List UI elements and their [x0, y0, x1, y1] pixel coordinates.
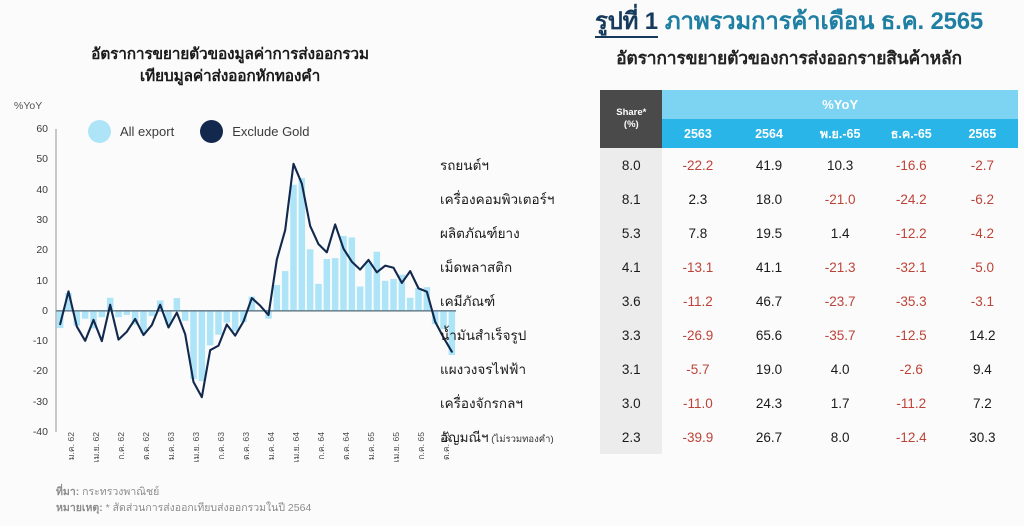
row-label: รถยนต์ฯ: [440, 148, 600, 182]
header-year-1: 2564: [733, 119, 804, 148]
header-yoy: %YoY: [662, 90, 1018, 119]
row-value-0: -22.2: [662, 148, 733, 182]
row-value-4: -5.0: [947, 250, 1018, 284]
row-label: น้ำมันสำเร็จรูป: [440, 318, 600, 352]
header-year-0: 2563: [662, 119, 733, 148]
row-value-2: -21.3: [805, 250, 876, 284]
row-share-value: 5.3: [600, 216, 662, 250]
commodity-growth-table: Share* (%) %YoY 25632564พ.ย.-65ธ.ค.-6525…: [440, 90, 1018, 454]
row-value-2: -35.7: [805, 318, 876, 352]
footnotes: ที่มา: กระทรวงพาณิชย์ หมายเหตุ: * สัดส่ว…: [56, 484, 311, 517]
row-value-3: -32.1: [876, 250, 947, 284]
row-value-4: -3.1: [947, 284, 1018, 318]
row-value-3: -12.5: [876, 318, 947, 352]
row-value-2: 1.4: [805, 216, 876, 250]
figure-number: รูปที่ 1: [595, 8, 658, 38]
row-value-2: 8.0: [805, 420, 876, 454]
row-value-3: -11.2: [876, 386, 947, 420]
header-year-4: 2565: [947, 119, 1018, 148]
x-tick-13: เม.ย. 65: [389, 432, 403, 462]
x-tick-4: ม.ค. 63: [164, 432, 178, 460]
header-share-line1: Share: [616, 107, 642, 118]
row-label: เคมีภัณฑ์: [440, 284, 600, 318]
row-value-4: -4.2: [947, 216, 1018, 250]
row-value-0: -26.9: [662, 318, 733, 352]
row-value-2: -23.7: [805, 284, 876, 318]
header-share-line2: (%): [624, 119, 639, 130]
row-label-note: (ไม่รวมทองคำ): [489, 434, 554, 445]
row-label: อัญมณีฯ (ไม่รวมทองคำ): [440, 420, 600, 454]
footnote-source: ที่มา: กระทรวงพาณิชย์: [56, 484, 311, 500]
x-tick-14: ก.ค. 65: [414, 432, 428, 460]
x-tick-7: ต.ค. 63: [239, 432, 253, 460]
row-value-4: 9.4: [947, 352, 1018, 386]
row-label: เม็ดพลาสติก: [440, 250, 600, 284]
row-value-1: 19.0: [733, 352, 804, 386]
table-head-row-1: Share* (%) %YoY: [440, 90, 1018, 119]
row-share-value: 4.1: [600, 250, 662, 284]
row-value-3: -24.2: [876, 182, 947, 216]
row-share-value: 8.0: [600, 148, 662, 182]
row-value-0: -39.9: [662, 420, 733, 454]
row-value-4: 7.2: [947, 386, 1018, 420]
row-value-3: -35.3: [876, 284, 947, 318]
page-title: รูปที่ 1ภาพรวมการค้าเดือน ธ.ค. 2565: [560, 8, 1018, 36]
x-tick-5: เม.ย. 63: [189, 432, 203, 462]
row-value-1: 24.3: [733, 386, 804, 420]
row-value-2: -21.0: [805, 182, 876, 216]
x-tick-10: ก.ค. 64: [314, 432, 328, 460]
x-tick-6: ก.ค. 63: [214, 432, 228, 460]
footnote-note: หมายเหตุ: * สัดส่วนการส่งออกเทียบส่งออกร…: [56, 500, 311, 516]
table-row: เครื่องคอมพิวเตอร์ฯ8.12.318.0-21.0-24.2-…: [440, 182, 1018, 216]
row-value-3: -12.2: [876, 216, 947, 250]
row-value-2: 4.0: [805, 352, 876, 386]
x-tick-8: ม.ค. 64: [264, 432, 278, 460]
row-share-value: 3.3: [600, 318, 662, 352]
row-value-1: 46.7: [733, 284, 804, 318]
row-value-0: 2.3: [662, 182, 733, 216]
x-tick-3: ต.ค. 62: [139, 432, 153, 460]
row-value-0: -13.1: [662, 250, 733, 284]
footnote-source-key: ที่มา:: [56, 486, 79, 498]
row-value-1: 41.1: [733, 250, 804, 284]
row-value-0: -5.7: [662, 352, 733, 386]
header-share: Share* (%): [600, 90, 662, 148]
row-value-2: 10.3: [805, 148, 876, 182]
table-body: รถยนต์ฯ8.0-22.241.910.3-16.6-2.7เครื่องค…: [440, 148, 1018, 454]
table-row: แผงวงจรไฟฟ้า3.1-5.719.04.0-2.69.4: [440, 352, 1018, 386]
row-share-value: 3.6: [600, 284, 662, 318]
row-value-1: 19.5: [733, 216, 804, 250]
row-value-0: -11.2: [662, 284, 733, 318]
table-row: รถยนต์ฯ8.0-22.241.910.3-16.6-2.7: [440, 148, 1018, 182]
header-year-3: ธ.ค.-65: [876, 119, 947, 148]
row-value-4: 30.3: [947, 420, 1018, 454]
row-share-value: 3.1: [600, 352, 662, 386]
x-tick-2: ก.ค. 62: [114, 432, 128, 460]
row-label: เครื่องจักรกลฯ: [440, 386, 600, 420]
page-title-text: ภาพรวมการค้าเดือน ธ.ค. 2565: [665, 8, 983, 35]
table-head: Share* (%) %YoY 25632564พ.ย.-65ธ.ค.-6525…: [440, 90, 1018, 148]
row-value-1: 18.0: [733, 182, 804, 216]
table-row: เม็ดพลาสติก4.1-13.141.1-21.3-32.1-5.0: [440, 250, 1018, 284]
row-value-2: 1.7: [805, 386, 876, 420]
header-share-star: *: [643, 107, 647, 118]
row-value-3: -16.6: [876, 148, 947, 182]
table-row: เครื่องจักรกลฯ3.0-11.024.31.7-11.27.2: [440, 386, 1018, 420]
row-value-0: -11.0: [662, 386, 733, 420]
data-table-block: Share* (%) %YoY 25632564พ.ย.-65ธ.ค.-6525…: [440, 90, 1018, 454]
table-row: น้ำมันสำเร็จรูป3.3-26.965.6-35.7-12.514.…: [440, 318, 1018, 352]
row-value-4: -2.7: [947, 148, 1018, 182]
x-tick-9: เม.ย. 64: [289, 432, 303, 462]
x-tick-11: ต.ค. 64: [339, 432, 353, 460]
footnote-source-value: กระทรวงพาณิชย์: [82, 486, 159, 498]
row-label: ผลิตภัณฑ์ยาง: [440, 216, 600, 250]
row-value-3: -2.6: [876, 352, 947, 386]
header-blank-corner: [440, 90, 600, 119]
row-share-value: 8.1: [600, 182, 662, 216]
x-tick-0: ม.ค. 62: [64, 432, 78, 460]
row-value-0: 7.8: [662, 216, 733, 250]
row-value-3: -12.4: [876, 420, 947, 454]
row-value-4: -6.2: [947, 182, 1018, 216]
row-label: แผงวงจรไฟฟ้า: [440, 352, 600, 386]
row-share-value: 2.3: [600, 420, 662, 454]
table-row: อัญมณีฯ (ไม่รวมทองคำ)2.3-39.926.78.0-12.…: [440, 420, 1018, 454]
row-value-1: 65.6: [733, 318, 804, 352]
x-axis-ticks: ม.ค. 62เม.ย. 62ก.ค. 62ต.ค. 62ม.ค. 63เม.ย…: [0, 0, 470, 480]
header-block: รูปที่ 1ภาพรวมการค้าเดือน ธ.ค. 2565 อัตร…: [560, 8, 1018, 72]
footnote-note-value: * สัดส่วนการส่งออกเทียบส่งออกรวมในปี 256…: [106, 502, 312, 514]
page-subtitle: อัตราการขยายตัวของการส่งออกรายสินค้าหลัก: [560, 44, 1018, 72]
table-row: เคมีภัณฑ์3.6-11.246.7-23.7-35.3-3.1: [440, 284, 1018, 318]
x-tick-1: เม.ย. 62: [89, 432, 103, 462]
header-blank-corner-2: [440, 119, 600, 148]
table-row: ผลิตภัณฑ์ยาง5.37.819.51.4-12.2-4.2: [440, 216, 1018, 250]
x-tick-12: ม.ค. 65: [364, 432, 378, 460]
row-share-value: 3.0: [600, 386, 662, 420]
row-label: เครื่องคอมพิวเตอร์ฯ: [440, 182, 600, 216]
footnote-note-key: หมายเหตุ:: [56, 502, 103, 514]
row-value-1: 41.9: [733, 148, 804, 182]
header-year-2: พ.ย.-65: [805, 119, 876, 148]
chart-plot-area: 6050403020100-10-20-30-40 ม.ค. 62เม.ย. 6…: [0, 0, 470, 480]
row-value-1: 26.7: [733, 420, 804, 454]
infographic-root: รูปที่ 1ภาพรวมการค้าเดือน ธ.ค. 2565 อัตร…: [0, 0, 1024, 526]
table-head-row-2: 25632564พ.ย.-65ธ.ค.-652565: [440, 119, 1018, 148]
row-value-4: 14.2: [947, 318, 1018, 352]
